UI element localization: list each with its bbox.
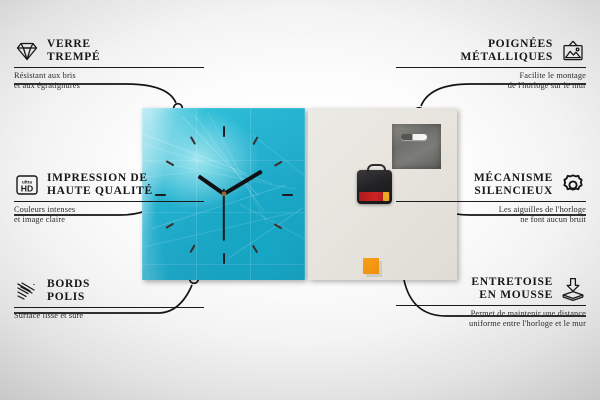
divider	[14, 67, 204, 68]
second-hand	[223, 189, 225, 241]
gear-icon	[560, 172, 586, 198]
hour-marker-3	[282, 194, 293, 196]
feature-description: Permet de maintenir une distance uniform…	[396, 309, 586, 329]
hour-marker-5	[252, 245, 258, 254]
hour-marker-6	[223, 253, 225, 264]
hour-marker-7	[189, 245, 195, 254]
divider	[396, 305, 586, 306]
battery	[359, 192, 390, 201]
divider	[14, 201, 204, 202]
foam-spacer	[363, 258, 379, 274]
infographic-canvas: VERRE TREMPÉ Résistant aux bris et aux é…	[0, 0, 600, 400]
minute-hand	[221, 170, 262, 197]
mechanism-hanging-loop	[367, 164, 386, 174]
battery-terminal	[383, 192, 389, 201]
feature-poignees-metalliques: POIGNÉES MÉTALLIQUES Facilite le montage…	[396, 38, 586, 91]
ultra-hd-icon-large-text: HD	[21, 183, 33, 193]
metal-hanger-plate	[392, 124, 441, 169]
feature-title: MÉCANISME SILENCIEUX	[474, 172, 553, 197]
hanger-slot	[401, 134, 427, 140]
feature-description: Facilite le montage de l'horloge sur le …	[396, 71, 586, 91]
hour-marker-11	[189, 136, 195, 145]
feature-title: VERRE TREMPÉ	[47, 38, 100, 63]
divider	[14, 307, 204, 308]
feature-title: ENTRETOISE EN MOUSSE	[471, 276, 553, 301]
feature-verre-trempe: VERRE TREMPÉ Résistant aux bris et aux é…	[14, 38, 204, 91]
clock-center-hub	[221, 192, 226, 197]
hour-marker-1	[252, 136, 258, 145]
feature-description: Résistant aux bris et aux égratignures	[14, 71, 204, 91]
hour-marker-4	[273, 223, 282, 229]
clock-mechanism	[357, 170, 392, 204]
hour-marker-10	[165, 161, 174, 167]
feature-title: POIGNÉES MÉTALLIQUES	[461, 38, 553, 63]
ultra-hd-icon: ultra HD	[14, 172, 40, 198]
feature-mecanisme-silencieux: MÉCANISME SILENCIEUX Les aiguilles de l'…	[396, 172, 586, 225]
picture-frame-hook-icon	[560, 38, 586, 64]
divider	[396, 67, 586, 68]
diamond-icon	[14, 38, 40, 64]
hour-marker-2	[273, 161, 282, 167]
feature-bords-polis: BORDS POLIS Surface lisse et sûre	[14, 278, 204, 321]
feature-description: Surface lisse et sûre	[14, 311, 204, 321]
hour-marker-12	[223, 126, 225, 137]
feature-title: IMPRESSION DE HAUTE QUALITÉ	[47, 172, 153, 197]
feature-impression-haute-qualite: ultra HD IMPRESSION DE HAUTE QUALITÉ Cou…	[14, 172, 204, 225]
foam-spacer-arrow-icon	[560, 276, 586, 302]
feature-description: Couleurs intenses et image claire	[14, 205, 204, 225]
polished-edges-icon	[14, 278, 40, 304]
feature-title: BORDS POLIS	[47, 278, 90, 303]
feature-entretoise-en-mousse: ENTRETOISE EN MOUSSE Permet de maintenir…	[396, 276, 586, 329]
feature-description: Les aiguilles de l'horloge ne font aucun…	[396, 205, 586, 225]
divider	[396, 201, 586, 202]
